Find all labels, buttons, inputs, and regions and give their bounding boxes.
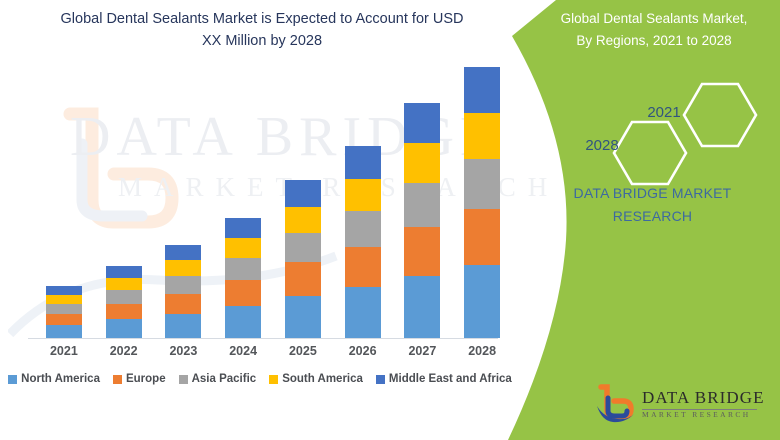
legend-label: Middle East and Africa (389, 373, 512, 385)
panel-title: Global Dental Sealants Market, By Region… (534, 8, 774, 51)
bar-segment-2022-north-america (106, 319, 142, 338)
legend-item-north-america[interactable]: North America (8, 373, 100, 385)
x-axis-label-2024: 2024 (213, 344, 273, 358)
chart-title-line2: XX Million by 2028 (202, 33, 322, 49)
x-axis-label-2028: 2028 (452, 344, 512, 358)
x-axis-label-2025: 2025 (273, 344, 333, 358)
bar-segment-2025-north-america (285, 296, 321, 338)
bar-2022 (106, 266, 142, 338)
chart-plot-area (24, 60, 502, 340)
bar-segment-2024-north-america (225, 306, 261, 338)
legend-swatch-icon (269, 375, 278, 384)
panel-title-line2: By Regions, 2021 to 2028 (576, 33, 731, 48)
chart-legend: North AmericaEuropeAsia PacificSouth Ame… (0, 373, 520, 385)
legend-label: Asia Pacific (192, 373, 257, 385)
bar-2026 (345, 146, 381, 338)
chart-panel: Global Dental Sealants Market is Expecte… (0, 0, 520, 440)
bar-segment-2023-north-america (165, 314, 201, 338)
bar-2021 (46, 286, 82, 338)
legend-label: South America (282, 373, 363, 385)
bar-segment-2027-middle-east-and-africa (404, 103, 440, 143)
bar-segment-2023-europe (165, 294, 201, 314)
chart-title-line1: Global Dental Sealants Market is Expecte… (61, 11, 464, 27)
bar-segment-2021-europe (46, 314, 82, 325)
bar-segment-2022-asia-pacific (106, 290, 142, 303)
bar-segment-2027-europe (404, 227, 440, 276)
chart-x-axis-labels: 20212022202320242025202620272028 (24, 344, 502, 364)
bar-segment-2024-south-america (225, 238, 261, 258)
bar-2027 (404, 103, 440, 338)
bar-segment-2027-asia-pacific (404, 183, 440, 226)
bar-segment-2024-europe (225, 280, 261, 306)
bar-segment-2024-middle-east-and-africa (225, 218, 261, 238)
green-panel-content: Global Dental Sealants Market, By Region… (520, 0, 780, 440)
data-bridge-logo: DATA BRIDGE MARKET RESEARCH (594, 384, 764, 424)
bar-2028 (464, 67, 500, 338)
logo-tagline: MARKET RESEARCH (642, 410, 751, 419)
bar-segment-2026-south-america (345, 179, 381, 211)
panel-brand-line2: RESEARCH (613, 208, 692, 224)
hexagon-group (560, 82, 775, 187)
x-axis-label-2022: 2022 (94, 344, 154, 358)
bar-segment-2022-middle-east-and-africa (106, 266, 142, 278)
legend-item-europe[interactable]: Europe (113, 373, 166, 385)
bar-segment-2025-europe (285, 262, 321, 295)
legend-item-asia-pacific[interactable]: Asia Pacific (179, 373, 257, 385)
x-axis-label-2026: 2026 (333, 344, 393, 358)
bar-2024 (225, 218, 261, 338)
bar-segment-2021-middle-east-and-africa (46, 286, 82, 295)
legend-label: Europe (126, 373, 166, 385)
legend-swatch-icon (8, 375, 17, 384)
bar-segment-2027-south-america (404, 143, 440, 183)
bar-2025 (285, 180, 321, 338)
bar-segment-2021-south-america (46, 295, 82, 304)
x-axis-label-2023: 2023 (153, 344, 213, 358)
hexagon-shapes (560, 82, 775, 187)
legend-swatch-icon (113, 375, 122, 384)
x-axis-label-2027: 2027 (392, 344, 452, 358)
bar-segment-2026-middle-east-and-africa (345, 146, 381, 179)
legend-label: North America (21, 373, 100, 385)
bar-segment-2026-asia-pacific (345, 211, 381, 247)
legend-swatch-icon (179, 375, 188, 384)
chart-x-axis (28, 338, 498, 339)
x-axis-label-2021: 2021 (34, 344, 94, 358)
logo-name: DATA BRIDGE (642, 388, 765, 408)
legend-swatch-icon (376, 375, 385, 384)
bar-segment-2027-north-america (404, 276, 440, 338)
panel-title-line1: Global Dental Sealants Market, (561, 11, 748, 26)
bar-segment-2026-north-america (345, 287, 381, 338)
bar-segment-2028-europe (464, 209, 500, 265)
hexagon-label-2028: 2028 (570, 137, 634, 154)
bar-segment-2025-south-america (285, 207, 321, 234)
bar-segment-2025-asia-pacific (285, 233, 321, 262)
bar-segment-2028-north-america (464, 265, 500, 338)
bar-segment-2021-north-america (46, 325, 82, 338)
chart-title: Global Dental Sealants Market is Expecte… (20, 8, 504, 53)
bar-segment-2028-middle-east-and-africa (464, 67, 500, 114)
panel-brand-line1: DATA BRIDGE MARKET (574, 185, 732, 201)
bar-segment-2021-asia-pacific (46, 304, 82, 314)
bar-segment-2023-middle-east-and-africa (165, 245, 201, 261)
bar-segment-2022-south-america (106, 278, 142, 290)
bar-segment-2025-middle-east-and-africa (285, 180, 321, 207)
bar-segment-2026-europe (345, 247, 381, 287)
infographic-root: DATA BRIDGE MARKET RESEARCH Global Denta… (0, 0, 780, 440)
legend-item-middle-east-and-africa[interactable]: Middle East and Africa (376, 373, 512, 385)
bar-segment-2023-asia-pacific (165, 276, 201, 294)
logo-b-icon (594, 384, 636, 424)
panel-brand-text: DATA BRIDGE MARKET RESEARCH (545, 182, 760, 228)
hexagon-label-2021: 2021 (632, 104, 696, 121)
bar-segment-2024-asia-pacific (225, 258, 261, 280)
bar-segment-2028-south-america (464, 113, 500, 159)
bar-segment-2023-south-america (165, 260, 201, 276)
bar-segment-2022-europe (106, 304, 142, 320)
bar-segment-2028-asia-pacific (464, 159, 500, 209)
legend-item-south-america[interactable]: South America (269, 373, 363, 385)
bar-2023 (165, 245, 201, 338)
